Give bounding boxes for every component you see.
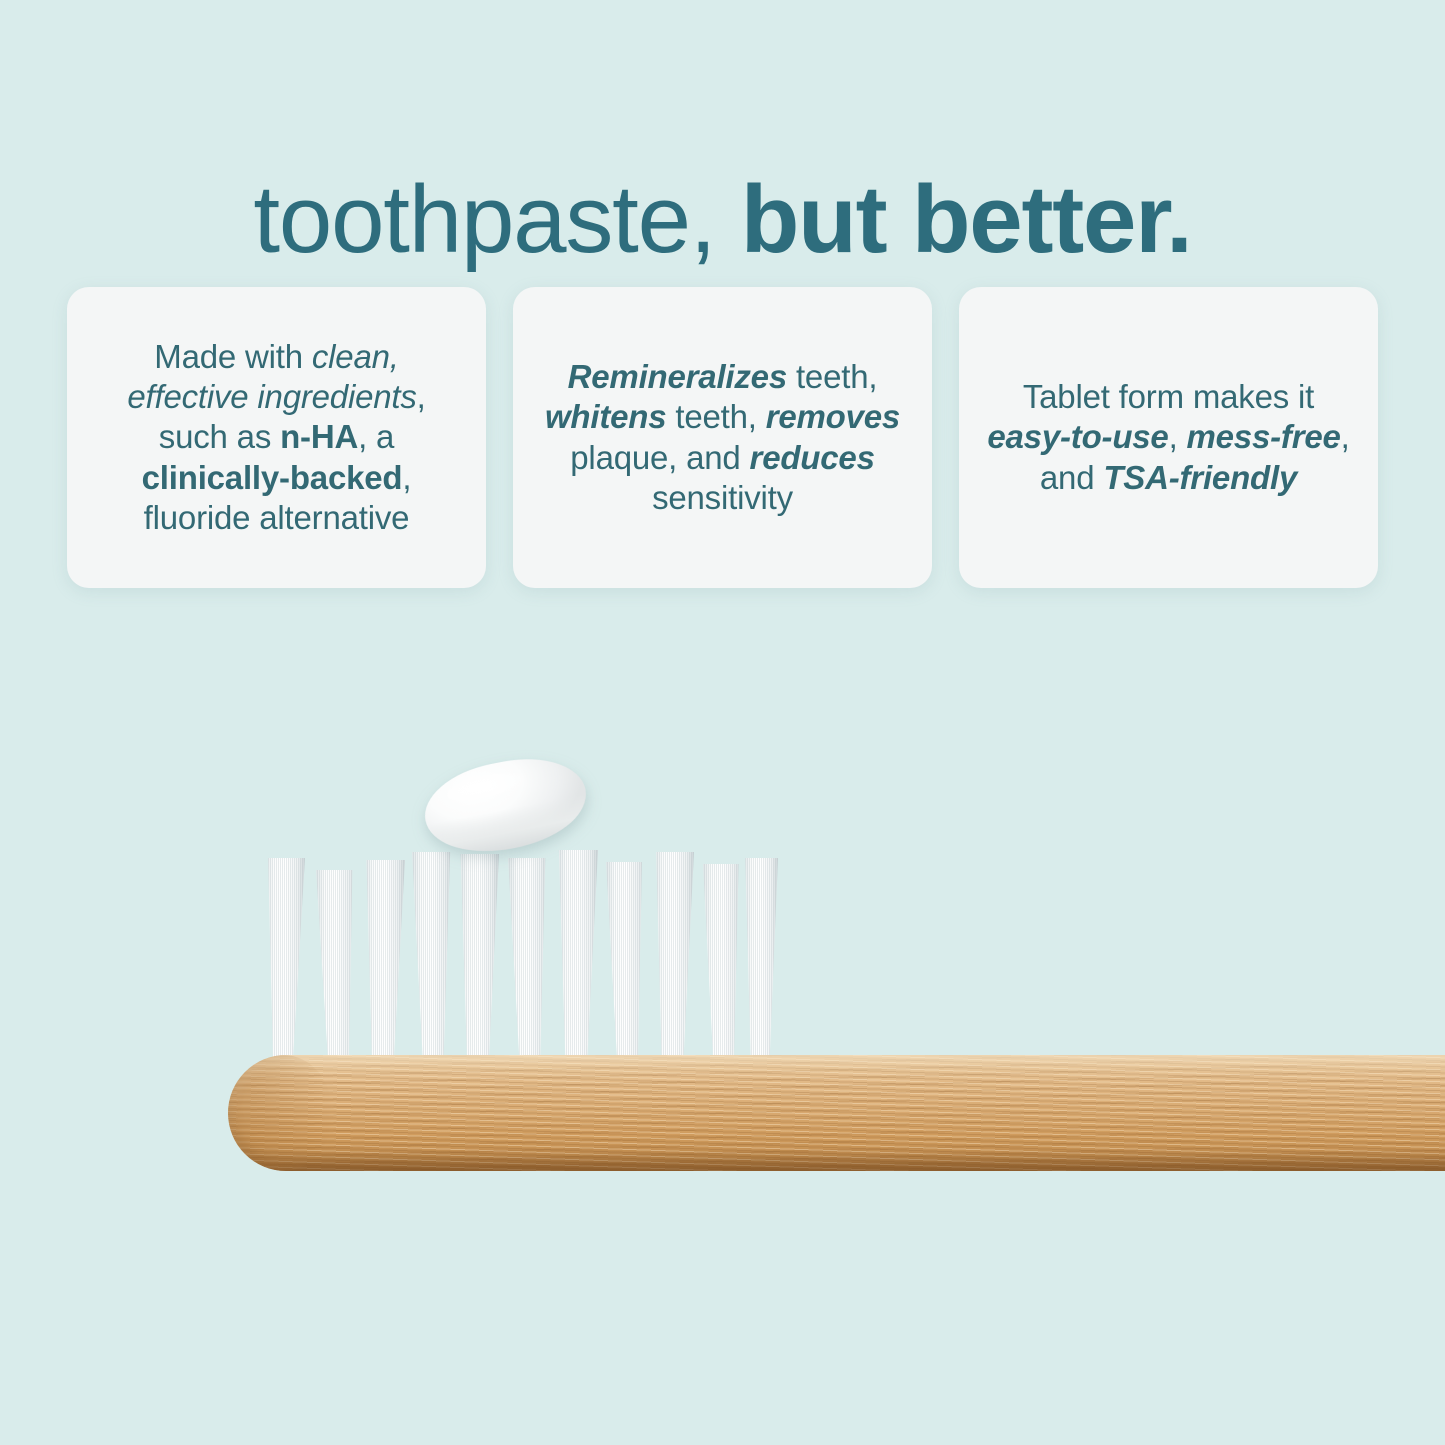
headline-light-part: toothpaste,: [253, 166, 715, 273]
bristle-tuft: [316, 870, 356, 1058]
feature-card-2: Remineralizes teeth, whitens teeth, remo…: [513, 287, 932, 588]
bristle-tuft: [412, 852, 452, 1058]
product-feature-graphic: toothpaste, but better. Made with clean,…: [0, 0, 1445, 1445]
feature-card-3-text: Tablet form makes it easy-to-use, mess-f…: [985, 377, 1352, 498]
bristle-tuft: [744, 858, 778, 1058]
bristle-tuft: [606, 862, 645, 1058]
bristle-tuft: [557, 850, 598, 1058]
page-title: toothpaste, but better.: [0, 172, 1445, 268]
bristle-tuft: [265, 858, 305, 1058]
handle-bottom-shade: [228, 1149, 1445, 1171]
headline-bold-part: but better.: [715, 166, 1191, 273]
handle-rounded-end: [228, 1055, 332, 1171]
bristle-tuft: [364, 860, 405, 1058]
bristle-tuft: [654, 852, 694, 1058]
bristle-tuft: [703, 864, 741, 1058]
feature-card-1-text: Made with clean, effective ingredients, …: [93, 337, 460, 538]
feature-card-3: Tablet form makes it easy-to-use, mess-f…: [959, 287, 1378, 588]
product-image: [0, 700, 1445, 1260]
bristle-tuft: [459, 854, 499, 1058]
bamboo-handle: [228, 1055, 1445, 1171]
bristle-tuft: [508, 858, 548, 1058]
feature-card-2-text: Remineralizes teeth, whitens teeth, remo…: [539, 357, 906, 518]
feature-card-1: Made with clean, effective ingredients, …: [67, 287, 486, 588]
toothbrush-bristles: [0, 700, 1445, 1100]
feature-card-row: Made with clean, effective ingredients, …: [67, 287, 1378, 588]
handle-top-sheen: [228, 1055, 1445, 1081]
